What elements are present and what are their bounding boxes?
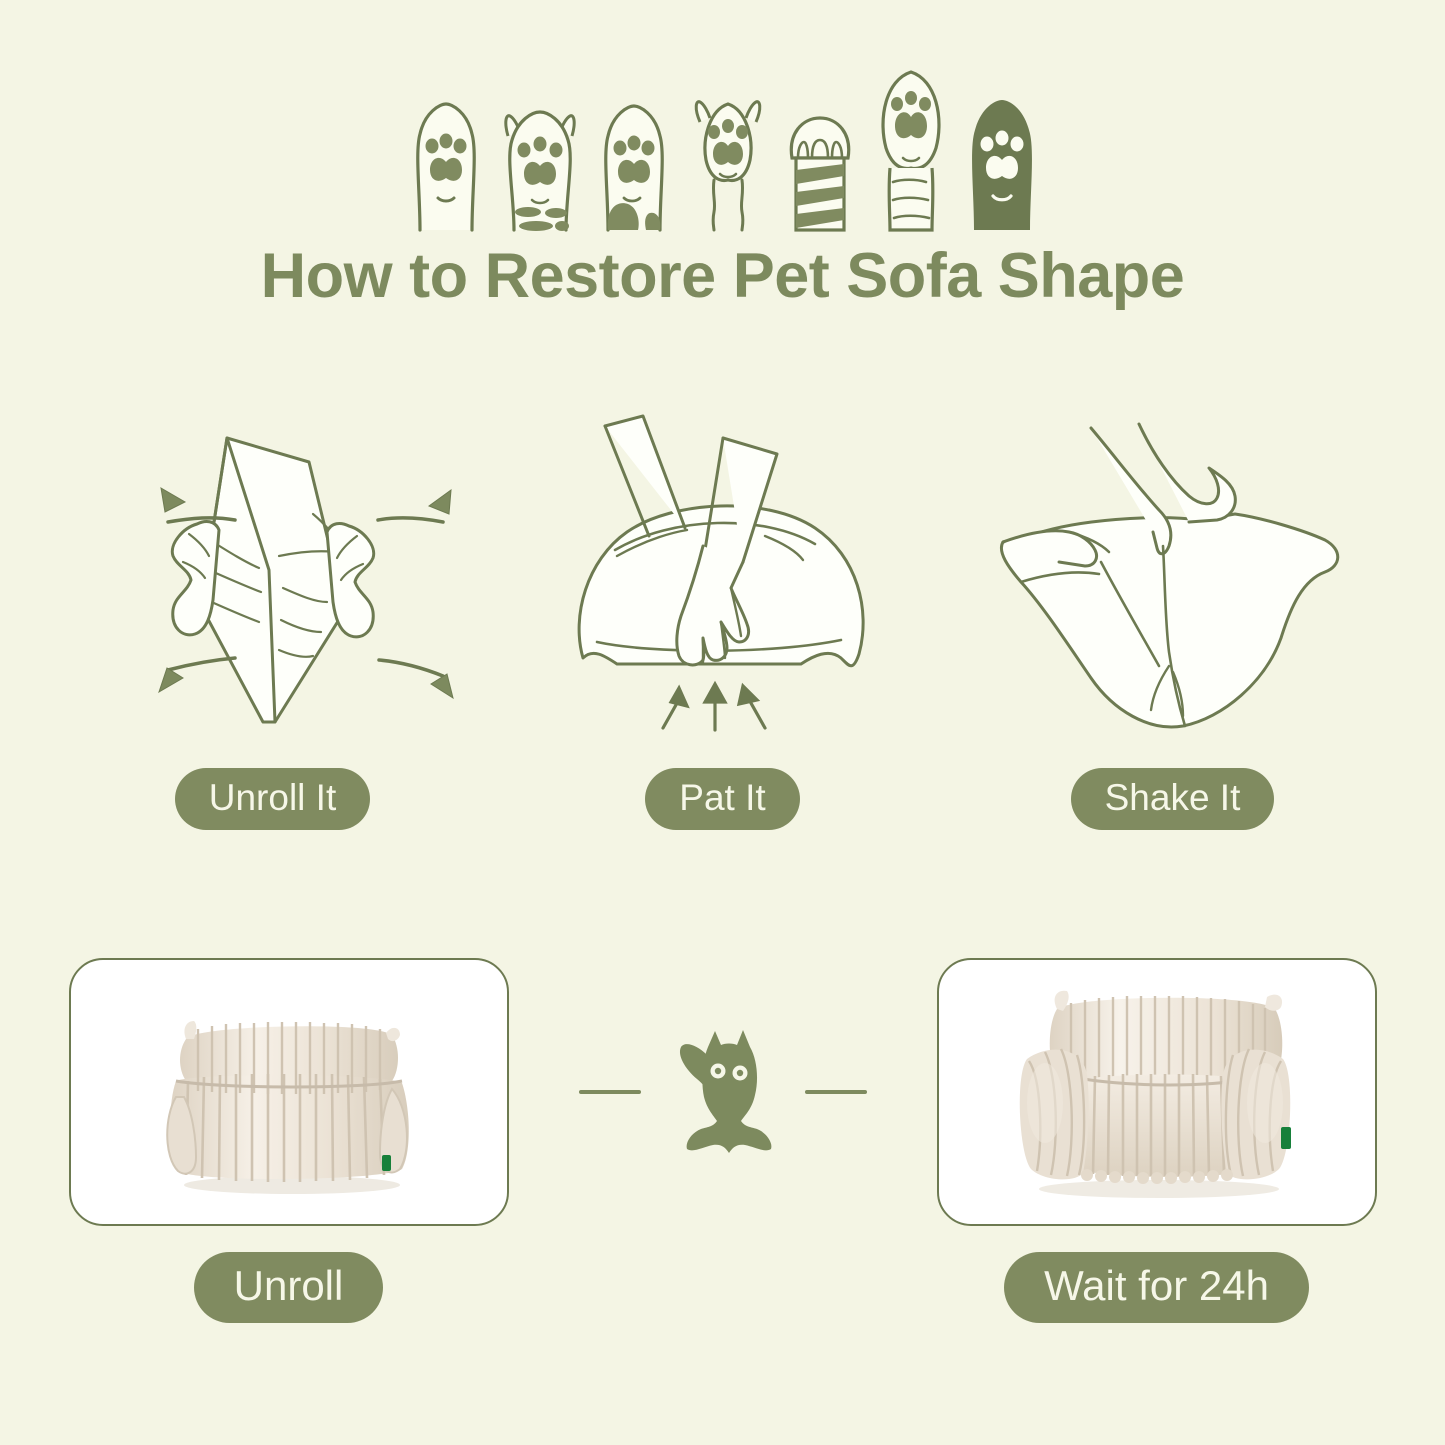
- hands-unrolling-bed-illustration: [73, 400, 473, 750]
- hands-patting-bed-illustration: [553, 400, 893, 750]
- after-label-row: Wait for 24h: [1004, 1252, 1309, 1323]
- paw-tall-striped-icon: [864, 62, 958, 232]
- paw-fluffy-ears-icon: [680, 82, 776, 232]
- step-label-shake-it: Shake It: [1071, 768, 1275, 830]
- compare-before: Unroll: [65, 958, 513, 1323]
- before-label-row: Unroll: [194, 1252, 384, 1323]
- compare-label-unroll: Unroll: [194, 1252, 384, 1323]
- cat-paws-row-icon: [0, 62, 1445, 232]
- photo-compressed-bed: [69, 958, 509, 1226]
- paw-solid-green-icon: [958, 92, 1046, 232]
- step-label-unroll-it: Unroll It: [175, 768, 370, 830]
- compare-separator: [513, 958, 933, 1226]
- step-label-pat-it: Pat It: [645, 768, 799, 830]
- paw-patch-white-icon: [588, 92, 680, 232]
- compare-label-wait-24h: Wait for 24h: [1004, 1252, 1309, 1323]
- page-title: How to Restore Pet Sofa Shape: [0, 240, 1445, 312]
- brand-tag: [382, 1155, 391, 1171]
- paw-plain-white-icon: [400, 92, 492, 232]
- photo-restored-sofa: [937, 958, 1377, 1226]
- brand-tag: [1281, 1127, 1291, 1149]
- hands-shaking-bed-illustration: [973, 400, 1373, 750]
- dash-left: [579, 1090, 641, 1094]
- paw-striped-tufted-icon: [492, 92, 588, 232]
- dash-right: [805, 1090, 867, 1094]
- steps-row: Unroll It: [0, 400, 1445, 830]
- infographic-page: How to Restore Pet Sofa Shape: [0, 0, 1445, 1445]
- before-after-row: Unroll: [0, 958, 1445, 1323]
- step-pat-it: Pat It: [498, 400, 948, 830]
- paw-mushroom-striped-icon: [776, 92, 864, 232]
- cat-silhouette-icon: [663, 1017, 783, 1167]
- step-unroll-it: Unroll It: [48, 400, 498, 830]
- step-shake-it: Shake It: [948, 400, 1398, 830]
- compare-after: Wait for 24h: [933, 958, 1381, 1323]
